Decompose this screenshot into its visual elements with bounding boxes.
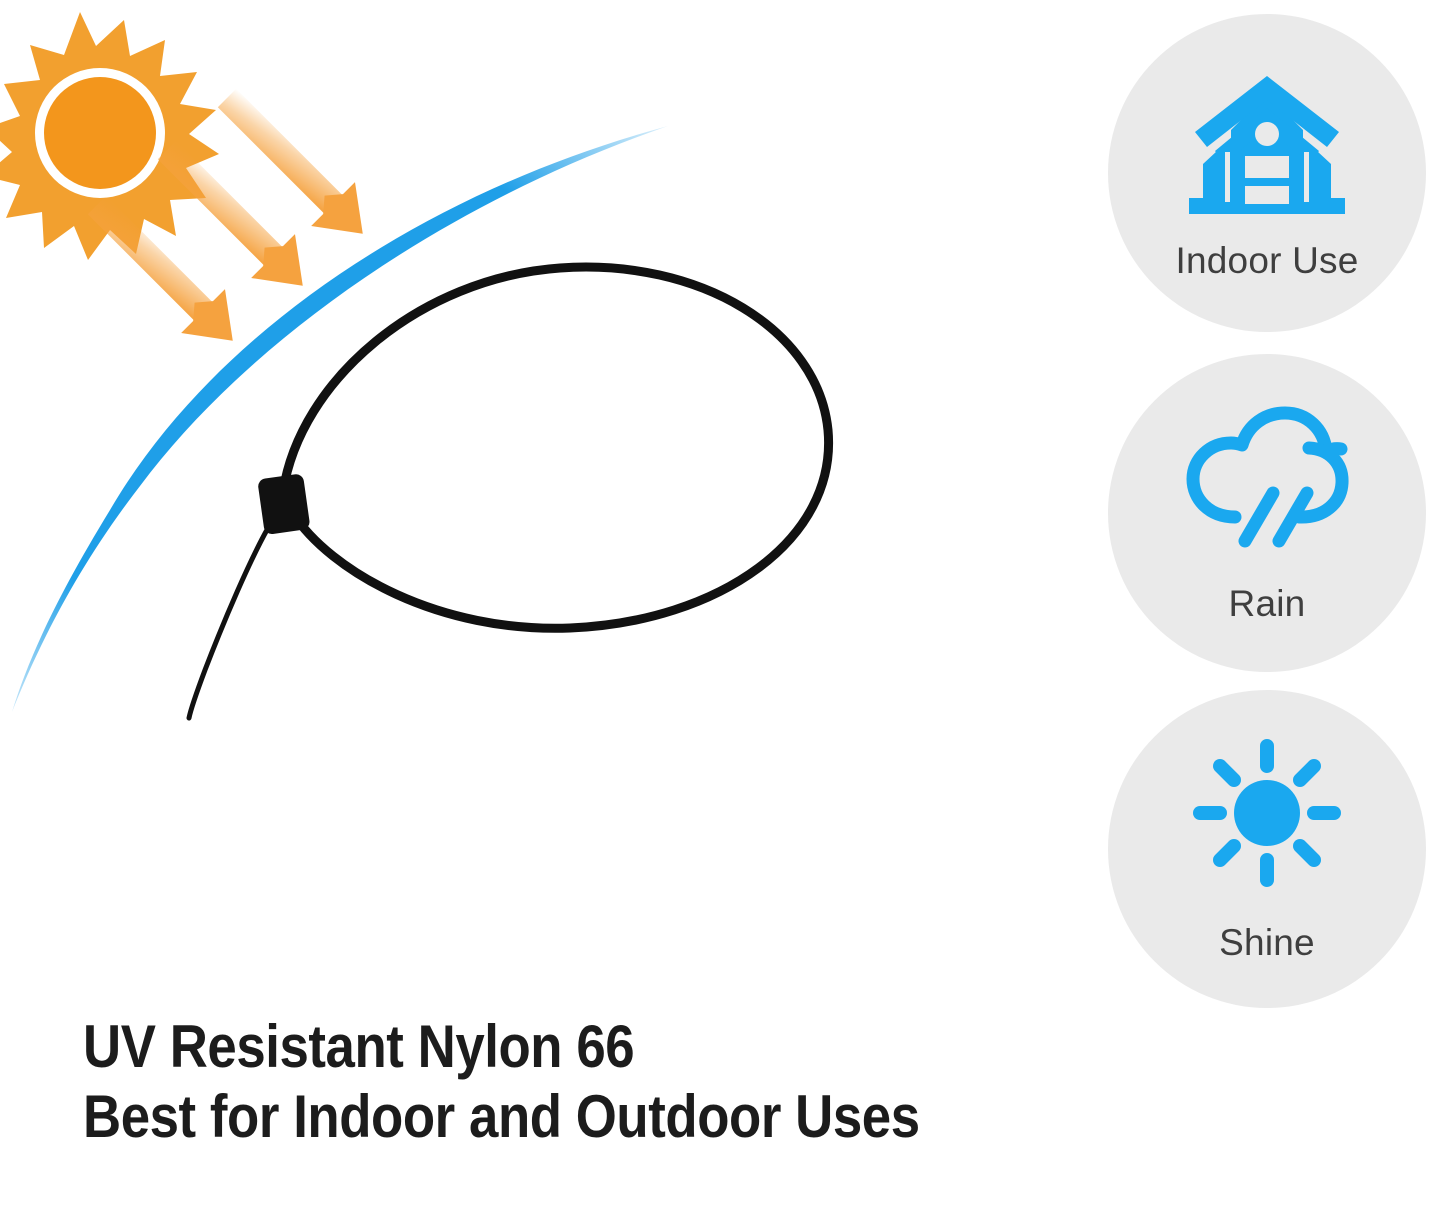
badge-indoor-use[interactable]: Indoor Use [1108,14,1426,332]
headline-block: UV Resistant Nylon 66 Best for Indoor an… [83,1012,1183,1167]
badge-label-rain: Rain [1229,585,1306,622]
house-icon [1179,68,1355,220]
sun-icon [1192,738,1342,888]
rain-cloud-icon [1179,405,1355,555]
feature-badge-list: Indoor Use Rain [1108,14,1428,1014]
product-infographic: Indoor Use Rain [0,0,1432,1211]
headline-line-2: Best for Indoor and Outdoor Uses [83,1082,1051,1152]
uv-resistance-illustration [0,0,1060,1000]
badge-label-shine: Shine [1219,924,1315,961]
headline-line-1: UV Resistant Nylon 66 [83,1012,1051,1082]
badge-shine[interactable]: Shine [1108,690,1426,1008]
badge-label-indoor-use: Indoor Use [1176,242,1359,279]
badge-rain[interactable]: Rain [1108,354,1426,672]
